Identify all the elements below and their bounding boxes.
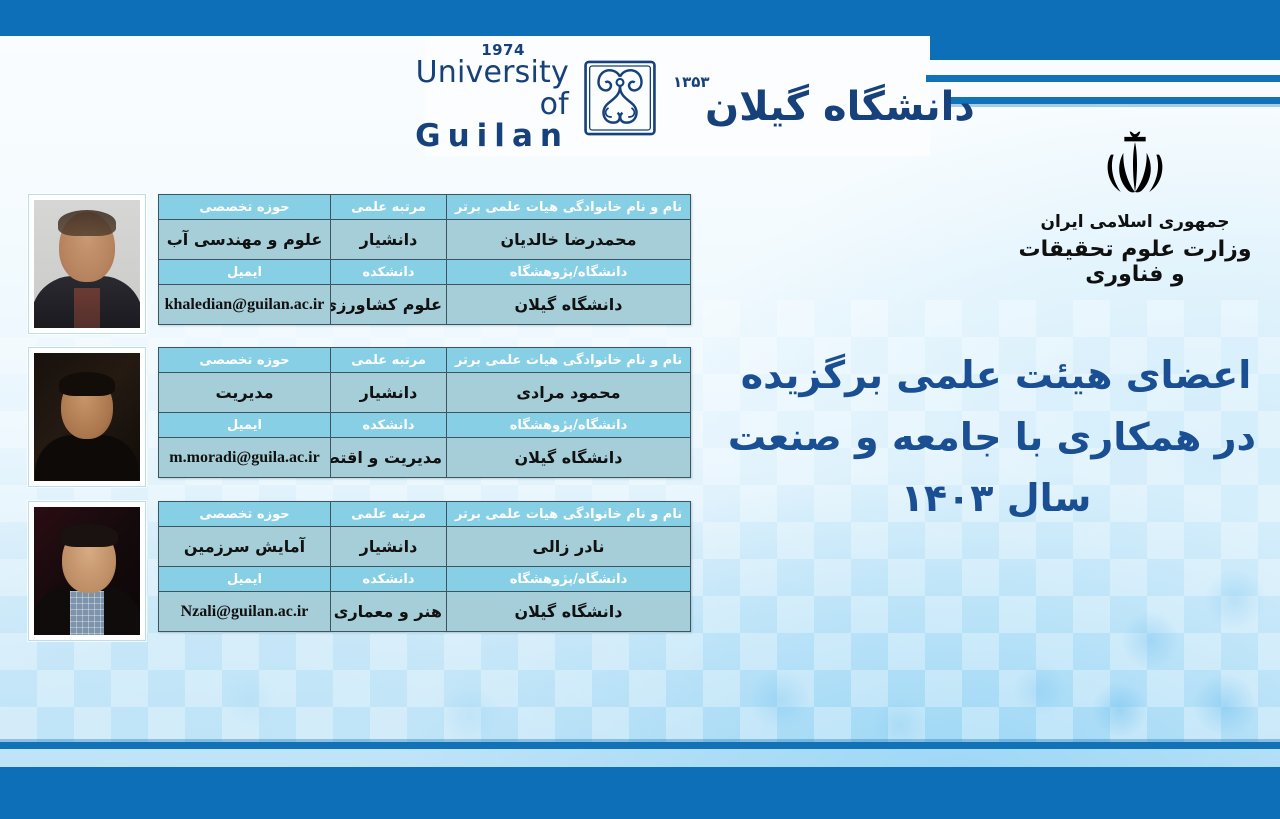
faculty-card: نام و نام خانوادگی هیات علمی برتر مرتبه … xyxy=(28,194,691,334)
ministry-line2: وزارت علوم تحقیقات و فناوری xyxy=(1010,237,1260,287)
header-institution: دانشگاه/پژوهشگاه xyxy=(447,260,691,285)
faculty-table: نام و نام خانوادگی هیات علمی برتر مرتبه … xyxy=(158,194,691,325)
value-institution: دانشگاه گیلان xyxy=(447,438,691,478)
table-row: محمود مرادی دانشیار مدیریت xyxy=(159,373,691,413)
header-institution: دانشگاه/پژوهشگاه xyxy=(447,567,691,592)
header-rank: مرتبه علمی xyxy=(331,348,447,373)
faculty-photo xyxy=(34,353,140,481)
iran-emblem-icon xyxy=(1010,128,1260,208)
header-field: حوزه تخصصی xyxy=(159,502,331,527)
value-email[interactable]: m.moradi@guila.ac.ir xyxy=(159,438,331,478)
header-field: حوزه تخصصی xyxy=(159,348,331,373)
value-institution: دانشگاه گیلان xyxy=(447,285,691,325)
table-row: دانشگاه گیلان علوم کشاورزی khaledian@gui… xyxy=(159,285,691,325)
university-name-persian: دانشگاه گیلان xyxy=(671,69,975,127)
faculty-photo xyxy=(34,200,140,328)
accent-line-top-2 xyxy=(947,97,1280,104)
header-faculty: دانشکده xyxy=(331,567,447,592)
header-institution: دانشگاه/پژوهشگاه xyxy=(447,413,691,438)
header-name: نام و نام خانوادگی هیات علمی برتر xyxy=(447,348,691,373)
university-logo: ۱۳۵۳ دانشگاه گیلان 1974 University of Gu… xyxy=(470,48,920,148)
accent-line-top-1 xyxy=(926,75,1280,82)
header-field: حوزه تخصصی xyxy=(159,195,331,220)
value-name: محمود مرادی xyxy=(447,373,691,413)
value-rank: دانشیار xyxy=(331,527,447,567)
faculty-photo-frame xyxy=(28,347,146,487)
header-rank: مرتبه علمی xyxy=(331,195,447,220)
university-name-persian-block: ۱۳۵۳ دانشگاه گیلان xyxy=(671,69,975,127)
accent-line-bottom xyxy=(0,742,1280,749)
value-faculty: مدیریت و اقتصاد xyxy=(331,438,447,478)
bottom-bar xyxy=(0,767,1280,819)
faculty-table: نام و نام خانوادگی هیات علمی برتر مرتبه … xyxy=(158,501,691,632)
table-header-row: نام و نام خانوادگی هیات علمی برتر مرتبه … xyxy=(159,348,691,373)
guilan-crest-icon xyxy=(579,57,661,139)
page-title: اعضای هیئت علمی برگزیده در همکاری با جام… xyxy=(736,345,1256,530)
value-field: آمایش سرزمین xyxy=(159,527,331,567)
header-email: ایمیل xyxy=(159,413,331,438)
header-name: نام و نام خانوادگی هیات علمی برتر xyxy=(447,502,691,527)
value-field: مدیریت xyxy=(159,373,331,413)
value-field: علوم و مهندسی آب xyxy=(159,220,331,260)
table-row: نادر زالی دانشیار آمایش سرزمین xyxy=(159,527,691,567)
header-rank: مرتبه علمی xyxy=(331,502,447,527)
header-email: ایمیل xyxy=(159,260,331,285)
faculty-table: نام و نام خانوادگی هیات علمی برتر مرتبه … xyxy=(158,347,691,478)
header-faculty: دانشکده xyxy=(331,260,447,285)
top-bar-left xyxy=(0,0,425,36)
value-faculty: هنر و معماری xyxy=(331,592,447,632)
value-name: محمدرضا خالدیان xyxy=(447,220,691,260)
value-email[interactable]: khaledian@guilan.ac.ir xyxy=(159,285,331,325)
faculty-photo-frame xyxy=(28,501,146,641)
page-title-line2: در همکاری با جامعه و صنعت xyxy=(736,407,1256,469)
university-name-english-line1: University of xyxy=(415,57,569,120)
table-header-row: نام و نام خانوادگی هیات علمی برتر مرتبه … xyxy=(159,502,691,527)
table-row: محمدرضا خالدیان دانشیار علوم و مهندسی آب xyxy=(159,220,691,260)
table-row: دانشگاه گیلان هنر و معماری Nzali@guilan.… xyxy=(159,592,691,632)
table-header-row: نام و نام خانوادگی هیات علمی برتر مرتبه … xyxy=(159,195,691,220)
page-title-line1: اعضای هیئت علمی برگزیده xyxy=(736,345,1256,407)
table-header-row: دانشگاه/پژوهشگاه دانشکده ایمیل xyxy=(159,260,691,285)
value-rank: دانشیار xyxy=(331,373,447,413)
table-header-row: دانشگاه/پژوهشگاه دانشکده ایمیل xyxy=(159,413,691,438)
university-name-english-block: 1974 University of Guilan xyxy=(415,43,569,152)
table-header-row: دانشگاه/پژوهشگاه دانشکده ایمیل xyxy=(159,567,691,592)
ministry-emblem: جمهوری اسلامی ایران وزارت علوم تحقیقات و… xyxy=(1010,128,1260,287)
university-year-persian: ۱۳۵۳ xyxy=(673,75,710,90)
university-name-english-line2: Guilan xyxy=(415,120,569,153)
header-name: نام و نام خانوادگی هیات علمی برتر xyxy=(447,195,691,220)
poster-canvas: ۱۳۵۳ دانشگاه گیلان 1974 University of Gu… xyxy=(0,0,1280,819)
table-row: دانشگاه گیلان مدیریت و اقتصاد m.moradi@g… xyxy=(159,438,691,478)
faculty-card: نام و نام خانوادگی هیات علمی برتر مرتبه … xyxy=(28,501,691,641)
value-rank: دانشیار xyxy=(331,220,447,260)
header-faculty: دانشکده xyxy=(331,413,447,438)
page-title-line3: سال ۱۴۰۳ xyxy=(736,468,1256,530)
value-faculty: علوم کشاورزی xyxy=(331,285,447,325)
value-email[interactable]: Nzali@guilan.ac.ir xyxy=(159,592,331,632)
ministry-line1: جمهوری اسلامی ایران xyxy=(1010,212,1260,232)
faculty-photo xyxy=(34,507,140,635)
header-email: ایمیل xyxy=(159,567,331,592)
faculty-photo-frame xyxy=(28,194,146,334)
value-name: نادر زالی xyxy=(447,527,691,567)
faculty-card: نام و نام خانوادگی هیات علمی برتر مرتبه … xyxy=(28,347,691,487)
value-institution: دانشگاه گیلان xyxy=(447,592,691,632)
